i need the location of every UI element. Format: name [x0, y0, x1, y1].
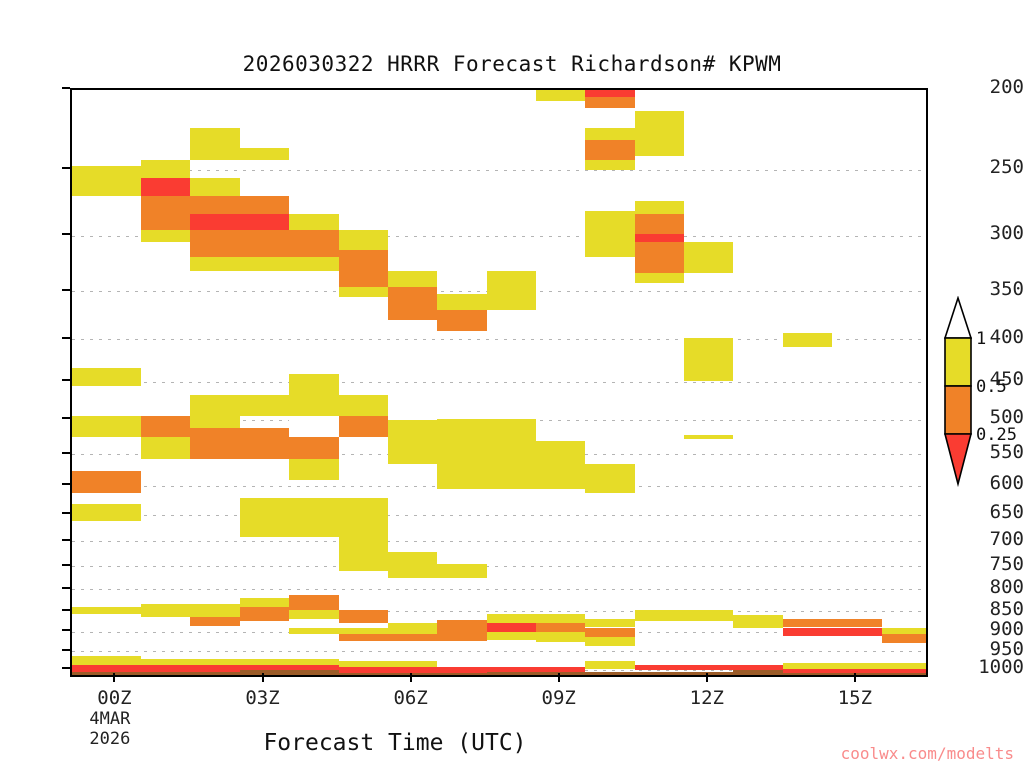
- heatmap-cell: [733, 615, 782, 627]
- screenshot-root: 2026030322 HRRR Forecast Richardson# KPW…: [0, 0, 1024, 768]
- gridline-650: [72, 515, 926, 516]
- heatmap-cell: [190, 214, 289, 230]
- heatmap-cell: [882, 634, 926, 643]
- heatmap-cell: [289, 459, 338, 480]
- page-title: 2026030322 HRRR Forecast Richardson# KPW…: [0, 52, 1024, 76]
- y-tick-label-1000: 1000: [958, 658, 1024, 677]
- heatmap-cell: [487, 623, 536, 632]
- heatmap-cell: [487, 614, 586, 624]
- heatmap-cell: [585, 661, 634, 668]
- heatmap-cell: [783, 628, 882, 636]
- heatmap-cell: [141, 230, 190, 242]
- heatmap-cell: [190, 128, 239, 149]
- heatmap-cell: [635, 610, 734, 621]
- y-tick-mark-850: [62, 609, 70, 611]
- heatmap-cell: [72, 504, 141, 521]
- x-axis-sublabel-line-0: 4MAR: [89, 709, 199, 729]
- x-tick-mark-03Z: [262, 673, 264, 682]
- heatmap-cell: [289, 610, 338, 620]
- y-tick-label-250: 250: [958, 158, 1024, 177]
- heatmap-cell: [585, 628, 634, 638]
- heatmap-cell: [585, 211, 634, 257]
- x-tick-mark-06Z: [410, 673, 412, 682]
- x-tick-label-15Z: 15Z: [805, 687, 905, 709]
- y-tick-mark-400: [62, 337, 70, 339]
- heatmap-cell: [72, 416, 141, 437]
- heatmap-cell: [536, 464, 585, 489]
- plot-frame: [70, 88, 928, 677]
- y-tick-mark-500: [62, 417, 70, 419]
- heatmap-cell: [585, 619, 634, 627]
- heatmap-cell: [684, 435, 733, 439]
- x-tick-label-12Z: 12Z: [657, 687, 757, 709]
- heatmap-cell: [635, 201, 684, 214]
- heatmap-cell: [72, 656, 141, 665]
- heatmap-cell: [388, 634, 487, 641]
- heatmap-cell: [585, 637, 634, 646]
- heatmap-cell: [437, 419, 536, 441]
- heatmap-cell: [684, 242, 733, 273]
- heatmap-cell: [190, 230, 338, 257]
- heatmap-cell: [141, 416, 190, 437]
- heatmap-cell: [388, 271, 437, 287]
- heatmap-cell: [635, 214, 684, 234]
- colorbar-band-orange: [945, 386, 971, 434]
- heatmap-cell: [585, 128, 634, 141]
- heatmap-cell: [289, 416, 338, 437]
- x-tick-mark-00Z: [113, 673, 115, 682]
- heatmap-cell: [190, 196, 289, 214]
- x-tick-label-09Z: 09Z: [509, 687, 609, 709]
- heatmap-cell: [388, 441, 487, 464]
- y-tick-label-800: 800: [958, 578, 1024, 597]
- heatmap-cell: [536, 623, 585, 632]
- x-tick-label-00Z: 00Z: [64, 687, 164, 709]
- terrain-segment: [72, 672, 240, 675]
- heatmap-cell: [437, 310, 486, 331]
- gridline-950: [72, 651, 926, 652]
- heatmap-cell: [289, 437, 338, 458]
- heatmap-cell: [635, 111, 684, 156]
- y-tick-mark-450: [62, 379, 70, 381]
- heatmap-cell: [240, 607, 289, 620]
- heatmap-cell: [585, 160, 634, 170]
- heatmap-cell: [388, 623, 437, 634]
- terrain-segment: [733, 670, 782, 675]
- colorbar: 1 0.5 0.25: [938, 296, 1024, 496]
- heatmap-cell: [190, 428, 289, 459]
- colorbar-label-1: 1: [976, 329, 986, 349]
- terrain-segment: [339, 673, 487, 675]
- y-tick-mark-200: [62, 87, 70, 89]
- heatmap-cell: [190, 395, 387, 416]
- y-tick-mark-350: [62, 289, 70, 291]
- heatmap-cell: [190, 257, 338, 270]
- heatmap-cell: [388, 287, 437, 320]
- terrain-segment: [240, 670, 339, 675]
- heatmap-cell: [437, 294, 486, 310]
- gridline-750: [72, 566, 926, 567]
- gridline-450: [72, 382, 926, 383]
- heatmap-cell: [72, 471, 141, 493]
- y-tick-mark-700: [62, 539, 70, 541]
- heatmap-cell: [240, 598, 289, 608]
- heatmap-cell: [141, 196, 190, 231]
- watermark: coolwx.com/modelts: [0, 744, 1014, 763]
- colorbar-over-arrow: [945, 298, 971, 338]
- heatmap-cell: [72, 166, 141, 195]
- heatmap-cell: [339, 250, 388, 286]
- y-tick-mark-1000: [62, 667, 70, 669]
- x-tick-mark-15Z: [854, 673, 856, 682]
- terrain-segment: [487, 672, 734, 675]
- colorbar-label-0.25: 0.25: [976, 425, 1017, 445]
- heatmap-cell: [487, 271, 536, 310]
- heatmap-cell: [635, 273, 684, 284]
- heatmap-cell: [339, 537, 388, 552]
- heatmap-cell: [141, 437, 190, 458]
- colorbar-under-arrow: [945, 434, 971, 484]
- heatmap-cell: [72, 368, 141, 387]
- heatmap-cell: [339, 230, 388, 250]
- heatmap-cell: [289, 595, 338, 609]
- y-tick-mark-300: [62, 233, 70, 235]
- heatmap-cell: [339, 416, 388, 437]
- colorbar-label-0.5: 0.5: [976, 377, 1007, 397]
- heatmap-cell: [141, 178, 190, 196]
- y-tick-label-650: 650: [958, 503, 1024, 522]
- y-tick-mark-750: [62, 564, 70, 566]
- heatmap-cell: [882, 628, 926, 635]
- x-tick-mark-12Z: [706, 673, 708, 682]
- heatmap-cell: [72, 607, 141, 614]
- y-tick-label-200: 200: [958, 78, 1024, 97]
- heatmap-cell: [141, 160, 190, 177]
- heatmap-cell: [437, 620, 486, 634]
- x-tick-label-06Z: 06Z: [361, 687, 461, 709]
- heatmap-cell: [487, 441, 586, 464]
- heatmap-cell: [437, 464, 536, 489]
- y-tick-mark-900: [62, 629, 70, 631]
- y-tick-label-900: 900: [958, 620, 1024, 639]
- heatmap-canvas: [72, 90, 926, 675]
- heatmap-cell: [585, 140, 634, 160]
- heatmap-cell: [388, 564, 487, 578]
- heatmap-cell: [585, 97, 634, 107]
- heatmap-cell: [289, 214, 338, 230]
- heatmap-cell: [635, 242, 684, 273]
- heatmap-cell: [783, 619, 882, 627]
- heatmap-cell: [783, 333, 832, 347]
- y-tick-mark-950: [62, 649, 70, 651]
- heatmap-cell: [190, 148, 289, 160]
- y-tick-mark-600: [62, 483, 70, 485]
- heatmap-cell: [585, 90, 634, 97]
- heatmap-cell: [339, 634, 388, 641]
- y-tick-label-700: 700: [958, 530, 1024, 549]
- heatmap-cell: [388, 420, 437, 441]
- heatmap-cell: [536, 90, 585, 101]
- gridline-250: [72, 170, 926, 171]
- heatmap-cell: [684, 338, 733, 381]
- heatmap-cell: [190, 617, 239, 626]
- heatmap-cell: [339, 287, 388, 297]
- heatmap-cell: [339, 610, 388, 624]
- y-tick-mark-250: [62, 167, 70, 169]
- heatmap-cell: [190, 178, 239, 196]
- x-tick-label-03Z: 03Z: [213, 687, 313, 709]
- y-tick-label-300: 300: [958, 224, 1024, 243]
- gridline-800: [72, 589, 926, 590]
- y-tick-mark-550: [62, 452, 70, 454]
- heatmap-cell: [487, 632, 536, 640]
- heatmap-cell: [240, 498, 388, 537]
- x-tick-mark-09Z: [558, 673, 560, 682]
- y-tick-label-750: 750: [958, 555, 1024, 574]
- gridline-700: [72, 541, 926, 542]
- heatmap-cell: [585, 464, 634, 493]
- y-tick-label-850: 850: [958, 600, 1024, 619]
- heatmap-cell: [289, 628, 388, 635]
- heatmap-cell: [635, 234, 684, 242]
- y-tick-mark-800: [62, 587, 70, 589]
- heatmap-cell: [289, 374, 338, 398]
- colorbar-band-yellow: [945, 338, 971, 386]
- heatmap-cell: [536, 632, 585, 642]
- y-tick-mark-650: [62, 512, 70, 514]
